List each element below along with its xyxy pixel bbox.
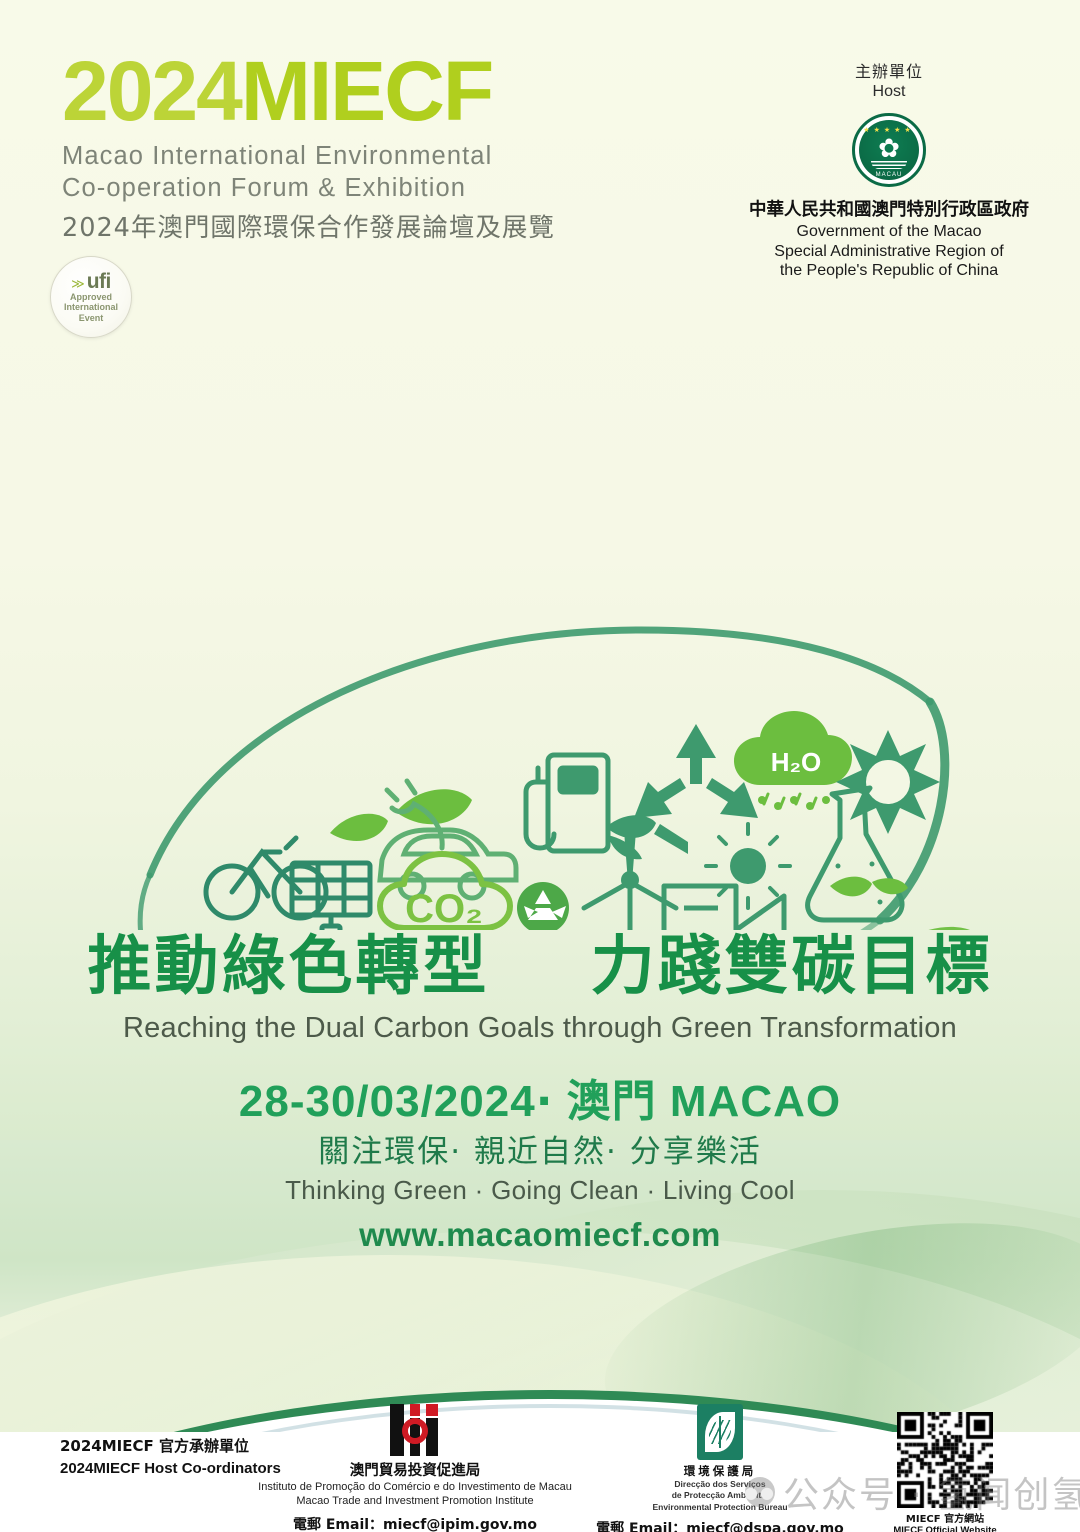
brand-title: 2024MIECF <box>62 52 682 132</box>
ipim-block: 澳門貿易投資促進局 Instituto de Promoção do Comér… <box>250 1404 580 1532</box>
slogan-block: 推動綠色轉型 力踐雙碳目標 Reaching the Dual Carbon G… <box>0 932 1080 1129</box>
brand-subtitle-en-line1: Macao International Environmental <box>62 140 682 173</box>
eco-illustration-svg: H₂O CO₂ <box>0 330 1080 930</box>
dspa-name-pt-line1: Direcção dos Serviços <box>575 1479 865 1490</box>
ufi-approved-event-badge: ≫ ufi Approved International Event <box>50 256 132 338</box>
poster-footer: 2024MIECF 官方承辦單位 2024MIECF Host Co-ordin… <box>0 1400 1080 1532</box>
dspa-leaf-shape <box>705 1412 735 1452</box>
recycle-arrows-icon <box>634 724 758 854</box>
tagline-en: Thinking Green · Going Clean · Living Co… <box>0 1175 1080 1206</box>
brand-block: 2024MIECF Macao International Environmen… <box>62 52 682 244</box>
ufi-caption-line3: Event <box>64 313 118 324</box>
emblem-macau-text: MACAU <box>859 172 919 178</box>
qr-caption-en: MIECF Official Website <box>875 1525 1015 1532</box>
emblem-lotus-icon: ✿ <box>878 135 900 161</box>
host-name-zh: 中華人民共和國澳門特別行政區政府 <box>744 196 1034 221</box>
tagline-zh: 關注環保· 親近自然· 分享樂活 <box>0 1126 1080 1171</box>
date-separator: · <box>536 1076 554 1127</box>
event-city-en: MACAO <box>670 1077 841 1126</box>
ufi-wordmark: ≫ ufi <box>71 271 111 292</box>
host-label-zh: 主辦單位 <box>744 58 1034 82</box>
dspa-block: 環境保護局 Direcção dos Serviços de Protecção… <box>575 1404 865 1532</box>
brand-acronym: MIECF <box>241 44 492 138</box>
coordinators-label-zh: 2024MIECF 官方承辦單位 <box>60 1436 281 1458</box>
qr-canvas <box>897 1412 993 1508</box>
host-label-en: Host <box>744 83 1034 101</box>
event-date-location: 28-30/03/2024· 澳門 MACAO <box>0 1065 1080 1129</box>
emblem-stars-icon: ★★★★★ <box>859 126 919 134</box>
qr-block: MIECF 官方網站 MIECF Official Website <box>875 1412 1015 1532</box>
event-city-zh: 澳門 <box>567 1076 657 1127</box>
tagline-block: 關注環保· 親近自然· 分享樂活 Thinking Green · Going … <box>0 1126 1080 1254</box>
dspa-name-zh: 環境保護局 <box>575 1463 865 1479</box>
co2-label: CO₂ <box>405 887 483 930</box>
coordinators-label-en: 2024MIECF Host Co-ordinators <box>60 1458 281 1480</box>
qr-caption-zh: MIECF 官方網站 <box>875 1510 1015 1525</box>
emblem-water-icon <box>871 161 907 169</box>
host-name-en-line2: Special Administrative Region of <box>744 242 1034 262</box>
small-sun-icon <box>706 824 790 908</box>
brand-year: 2024 <box>62 44 241 138</box>
ipim-name-en: Macao Trade and Investment Promotion Ins… <box>250 1494 580 1508</box>
emblem-inner: ★★★★★ ✿ MACAU <box>859 120 919 180</box>
dspa-name-en: Environmental Protection Bureau <box>575 1502 865 1513</box>
ufi-swoosh-icon: ≫ <box>71 277 85 290</box>
host-name-en-line1: Government of the Macao <box>744 222 1034 242</box>
slogan-en: Reaching the Dual Carbon Goals through G… <box>0 1012 1080 1045</box>
slogan-zh: 推動綠色轉型 力踐雙碳目標 <box>0 932 1080 1002</box>
ipim-logo-icon <box>388 1404 442 1456</box>
miecf-poster: 2024MIECF Macao International Environmen… <box>0 0 1080 1532</box>
dspa-email[interactable]: 電郵 Email：miecf@dspa.gov.mo <box>575 1518 865 1532</box>
brand-subtitle-zh: 2024年澳門國際環保合作發展論壇及展覽 <box>62 207 682 244</box>
ipim-email[interactable]: 電郵 Email：miecf@ipim.gov.mo <box>250 1514 580 1532</box>
ufi-caption: Approved International Event <box>64 292 118 324</box>
event-date: 28-30/03/2024 <box>239 1077 536 1126</box>
host-name-en: Government of the Macao Special Administ… <box>744 222 1034 281</box>
coordinators-label: 2024MIECF 官方承辦單位 2024MIECF Host Co-ordin… <box>60 1436 281 1480</box>
dspa-logo-icon <box>697 1404 743 1460</box>
eco-illustration: H₂O CO₂ <box>0 330 1080 930</box>
macao-sar-emblem-icon: ★★★★★ ✿ MACAU <box>852 113 926 187</box>
ufi-caption-line1: Approved <box>64 292 118 303</box>
recycle-badge-icon <box>517 882 569 930</box>
qr-code-icon[interactable] <box>897 1412 993 1508</box>
poster-header: 2024MIECF Macao International Environmen… <box>0 0 1080 330</box>
h2o-label: H₂O <box>771 747 822 777</box>
sun-icon <box>836 730 940 834</box>
ipim-name-pt: Instituto de Promoção do Comércio e do I… <box>250 1480 580 1494</box>
flask-leaf-icon <box>830 877 908 897</box>
ufi-word: ufi <box>87 271 111 292</box>
host-name-en-line3: the People's Republic of China <box>744 261 1034 281</box>
brand-subtitle-en: Macao International Environmental Co-ope… <box>62 140 682 205</box>
slogan-zh-part2: 力踐雙碳目標 <box>591 930 993 1004</box>
website-url[interactable]: www.macaomiecf.com <box>0 1216 1080 1254</box>
brand-subtitle-en-line2: Co-operation Forum & Exhibition <box>62 172 682 205</box>
ipim-name-zh: 澳門貿易投資促進局 <box>250 1459 580 1480</box>
ev-charging-station-icon <box>526 755 608 851</box>
ufi-caption-line2: International <box>64 302 118 313</box>
dspa-name-pt-line2: de Protecção Ambiental <box>575 1490 865 1501</box>
host-block: 主辦單位 Host ★★★★★ ✿ MACAU 中華人民共和國澳門特別行政區政府… <box>744 58 1034 281</box>
slogan-zh-part1: 推動綠色轉型 <box>87 930 489 1004</box>
